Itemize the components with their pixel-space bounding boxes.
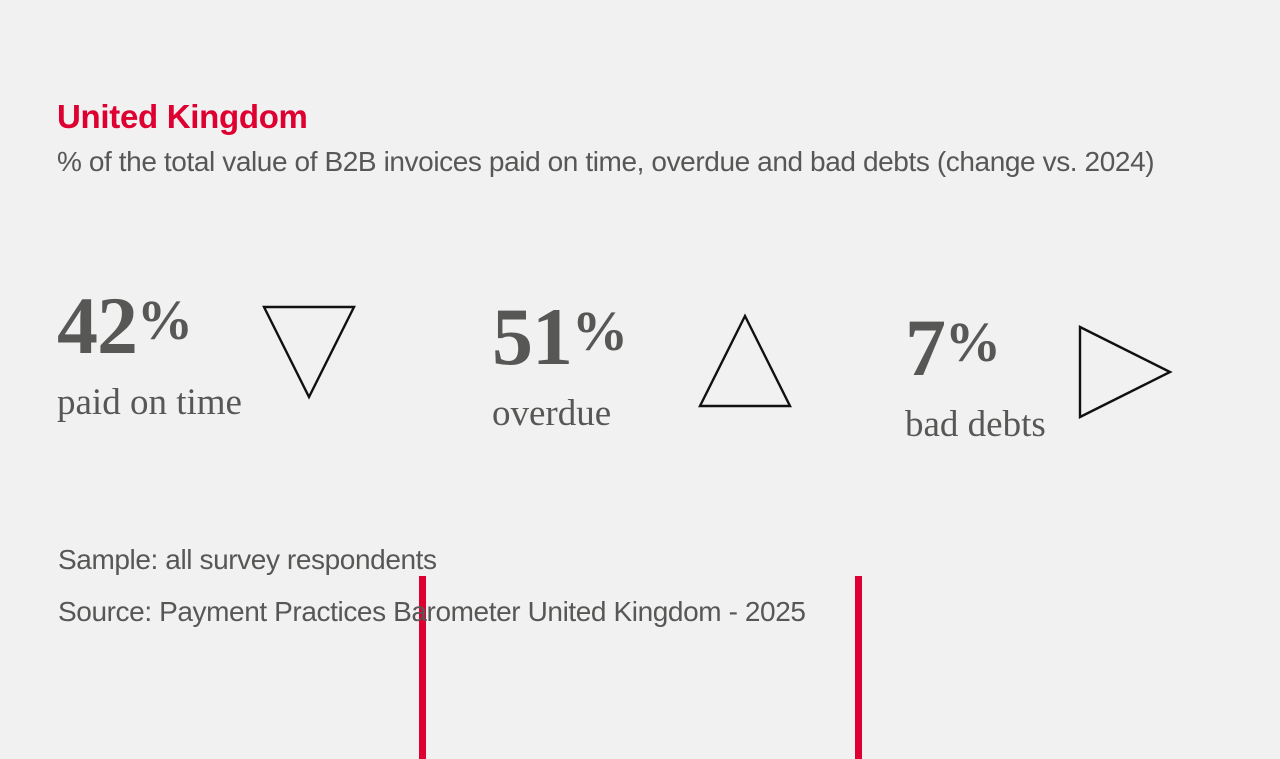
subtitle: % of the total value of B2B invoices pai…: [57, 145, 1187, 179]
stat-label: overdue: [492, 394, 627, 434]
stat-block-paid-on-time: 42% paid on time: [57, 280, 407, 500]
percent-sign: %: [572, 301, 627, 363]
page-title: United Kingdom: [57, 98, 1217, 136]
stat-value: 51%: [492, 291, 627, 378]
stat-number: 7: [905, 302, 945, 393]
stat-value: 42%: [57, 280, 242, 367]
stat-label: bad debts: [905, 405, 1046, 445]
sample-note: Sample: all survey respondents: [58, 534, 806, 586]
stat-text-group: 42% paid on time: [57, 280, 242, 423]
stat-block-bad-debts: 7% bad debts: [905, 280, 1235, 500]
stat-number: 42: [57, 280, 137, 371]
stat-block-overdue: 51% overdue: [492, 280, 822, 500]
stat-text-group: 7% bad debts: [905, 302, 1046, 445]
source-note: Source: Payment Practices Barometer Unit…: [58, 586, 806, 638]
infographic-root: United Kingdom % of the total value of B…: [0, 0, 1280, 720]
percent-sign: %: [945, 312, 1000, 374]
stat-number: 51: [492, 291, 572, 382]
triangle-right-icon: [1077, 324, 1173, 420]
triangle-down-icon: [261, 304, 357, 400]
stat-text-group: 51% overdue: [492, 291, 627, 434]
footer: Sample: all survey respondents Source: P…: [58, 534, 806, 638]
stat-value: 7%: [905, 302, 1046, 389]
stat-label: paid on time: [57, 383, 242, 423]
triangle-up-icon: [697, 313, 793, 409]
percent-sign: %: [137, 290, 192, 352]
stats-row: 42% paid on time 51% overdue: [0, 280, 1280, 500]
divider-bar: [855, 576, 862, 759]
header: United Kingdom % of the total value of B…: [57, 98, 1217, 179]
